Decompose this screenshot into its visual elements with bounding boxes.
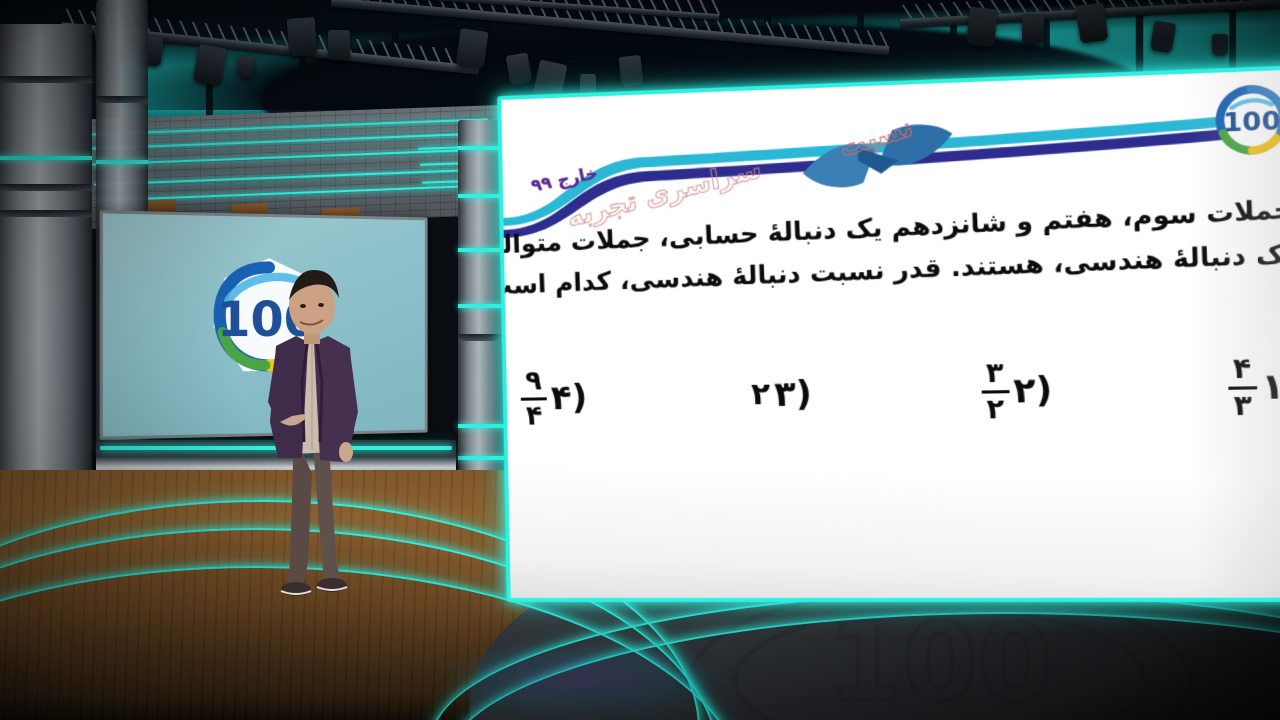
option-number: (۱ bbox=[1261, 369, 1280, 406]
pillar-band bbox=[0, 184, 92, 191]
fraction-numerator: ۳ bbox=[986, 359, 1004, 388]
screenshot-stage: 100 100 bbox=[0, 0, 1280, 720]
pillar-cyan-ring bbox=[458, 194, 504, 198]
studio-lamp bbox=[328, 30, 350, 60]
pillar-band bbox=[96, 96, 148, 103]
logo-text: 100 bbox=[1223, 105, 1280, 138]
pillar-cyan-ring bbox=[458, 456, 504, 460]
option-value-fraction: ۹ ۴ bbox=[520, 367, 547, 430]
answer-option-4[interactable]: (۴ ۹ ۴ bbox=[520, 366, 588, 429]
studio-lamp bbox=[1075, 2, 1108, 44]
presenter-figure bbox=[246, 262, 374, 606]
fraction-denominator: ۴ bbox=[526, 402, 543, 430]
answer-options-row: (۱ ۴ ۳ (۲ ۳ ۲ (۳ bbox=[520, 354, 1280, 430]
studio-lamp bbox=[238, 56, 254, 78]
pillar-cyan-ring bbox=[458, 146, 504, 150]
answer-option-1[interactable]: (۱ ۴ ۳ bbox=[1227, 354, 1280, 421]
studio-lamp bbox=[1212, 34, 1228, 56]
pillar-band bbox=[0, 210, 92, 217]
fraction-numerator: ۹ bbox=[525, 367, 542, 395]
pillar-cyan-ring bbox=[458, 304, 504, 308]
option-number: (۳ bbox=[774, 377, 812, 412]
option-number: (۲ bbox=[1013, 373, 1053, 409]
fraction-numerator: ۴ bbox=[1233, 355, 1252, 384]
hundred-logo-badge: 100 bbox=[1211, 80, 1280, 159]
pillar-cyan-ring bbox=[458, 248, 504, 252]
studio-lamp bbox=[287, 17, 318, 57]
option-value-integer: ۲ bbox=[751, 380, 771, 411]
pillar-cyan-ring bbox=[458, 424, 504, 428]
studio-lamp bbox=[966, 7, 998, 48]
studio-lamp bbox=[1150, 20, 1176, 53]
pillar-band bbox=[0, 76, 92, 83]
answer-option-2[interactable]: (۲ ۳ ۲ bbox=[981, 358, 1053, 424]
lens-flare bbox=[430, 640, 730, 720]
fraction-denominator: ۲ bbox=[986, 395, 1004, 424]
studio-lamp bbox=[618, 55, 643, 87]
lesson-slide-panel: خارج ۹۹ سراسری تجربه نسبت 100 جملات سوم،… bbox=[497, 64, 1280, 602]
answer-option-3[interactable]: (۳ ۲ bbox=[751, 377, 812, 413]
option-number: (۴ bbox=[550, 381, 587, 416]
studio-pillar-right bbox=[458, 120, 504, 500]
option-value-fraction: ۴ ۳ bbox=[1227, 355, 1257, 421]
pillar-cyan-ring bbox=[96, 160, 148, 164]
presenter bbox=[246, 262, 374, 606]
fraction-denominator: ۳ bbox=[1233, 391, 1252, 420]
studio-lamp bbox=[455, 28, 488, 70]
option-value-fraction: ۳ ۲ bbox=[981, 359, 1010, 424]
pillar-band bbox=[458, 334, 504, 341]
studio-lamp bbox=[1022, 14, 1044, 44]
pillar-cyan-ring bbox=[0, 156, 92, 160]
slide-content: خارج ۹۹ سراسری تجربه نسبت 100 جملات سوم،… bbox=[501, 69, 1280, 598]
